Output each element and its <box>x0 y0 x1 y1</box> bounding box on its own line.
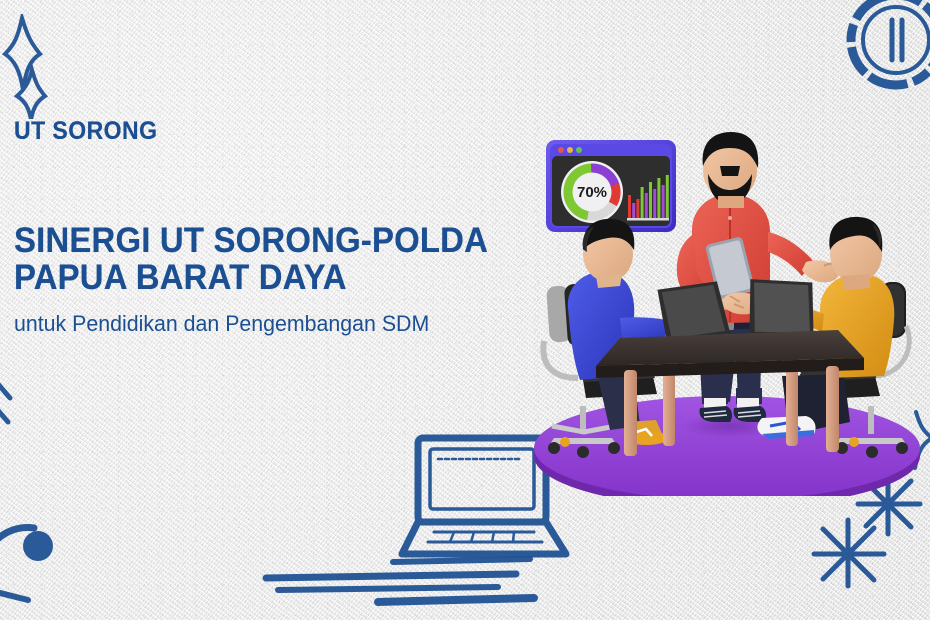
banner-canvas: UT SORONG SINERGI UT SORONG-POLDA PAPUA … <box>0 0 930 620</box>
page-title: SINERGI UT SORONG-POLDA PAPUA BARAT DAYA <box>14 222 540 297</box>
sparkle-top-left-icon <box>2 14 82 119</box>
table-leg-front-left <box>624 370 637 456</box>
window-dot-green <box>576 147 582 153</box>
subtitle-label: untuk Pendidikan dan Pengembangan SDM <box>14 310 557 338</box>
donut-percent-label: 70% <box>577 184 607 201</box>
dash-stroke-left-icon <box>0 378 24 428</box>
underline-strokes-icon <box>258 556 538 616</box>
headphones-doodle-icon <box>0 504 96 614</box>
eyebrow-label: UT SORONG <box>14 118 529 146</box>
table-leg-front-right <box>826 366 839 452</box>
seal-stamp-top-right-icon <box>834 0 930 104</box>
text-block: UT SORONG SINERGI UT SORONG-POLDA PAPUA … <box>14 118 574 338</box>
presenter-shoe-left <box>700 406 733 422</box>
team-meeting-illustration: 70% <box>524 126 930 496</box>
